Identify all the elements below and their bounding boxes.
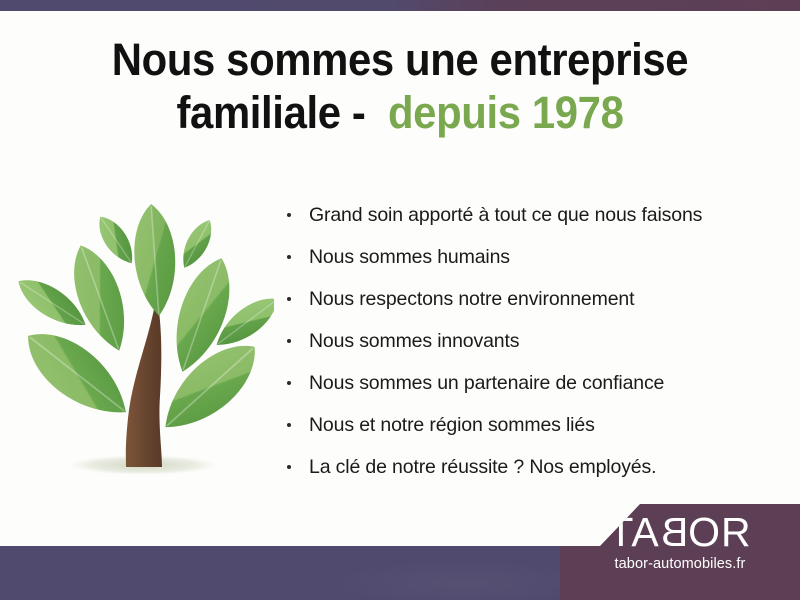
list-item-label: Nous sommes humains [309,246,510,268]
list-item-label: Grand soin apporté à tout ce que nous fa… [309,204,702,226]
bullet-dot-icon [287,255,291,259]
list-item-label: Nous respectons notre environnement [309,288,634,310]
list-item-label: Nous sommes innovants [309,330,519,352]
value-proposition-list: Grand soin apporté à tout ce que nous fa… [283,194,783,488]
list-item: Nous et notre région sommes liés [283,404,783,446]
headline-line-1: Nous sommes une entreprise [28,33,772,86]
bullet-dot-icon [287,213,291,217]
brand-wordmark-part2: OR [688,509,752,555]
list-item: Nous sommes innovants [283,320,783,362]
bullet-dot-icon [287,297,291,301]
tree-illustration [12,182,274,482]
brand-website-url[interactable]: tabor-automobiles.fr [560,554,800,574]
headline-line-2: familiale - depuis 1978 [28,86,772,139]
bullet-dot-icon [287,339,291,343]
slide-canvas: Nous sommes une entreprise familiale - d… [0,0,800,600]
top-accent-bar [0,0,800,11]
tree-trunk [126,304,162,467]
brand-wordmark: TABOR [560,510,800,554]
page-title: Nous sommes une entreprise familiale - d… [28,33,772,139]
list-item: Grand soin apporté à tout ce que nous fa… [283,194,783,236]
headline-accent-year: depuis 1978 [365,87,623,138]
brand-wordmark-part1: TA [608,509,659,555]
bullet-dot-icon [287,423,291,427]
brand-logo: TABOR tabor-automobiles.fr [560,510,800,574]
list-item-label: Nous sommes un partenaire de confiance [309,372,664,394]
list-item: Nous sommes humains [283,236,783,278]
list-item-label: Nous et notre région sommes liés [309,414,595,436]
brand-logo-panel[interactable]: TABOR tabor-automobiles.fr [560,504,800,600]
list-item: La clé de notre réussite ? Nos employés. [283,446,783,488]
headline-line-2-plain: familiale - [176,87,365,138]
tree-icon [12,182,274,482]
bullet-dot-icon [287,465,291,469]
bullet-dot-icon [287,381,291,385]
list-item-label: La clé de notre réussite ? Nos employés. [309,456,656,478]
list-item: Nous sommes un partenaire de confiance [283,362,783,404]
list-item: Nous respectons notre environnement [283,278,783,320]
brand-wordmark-mirrored-b: B [660,510,688,554]
